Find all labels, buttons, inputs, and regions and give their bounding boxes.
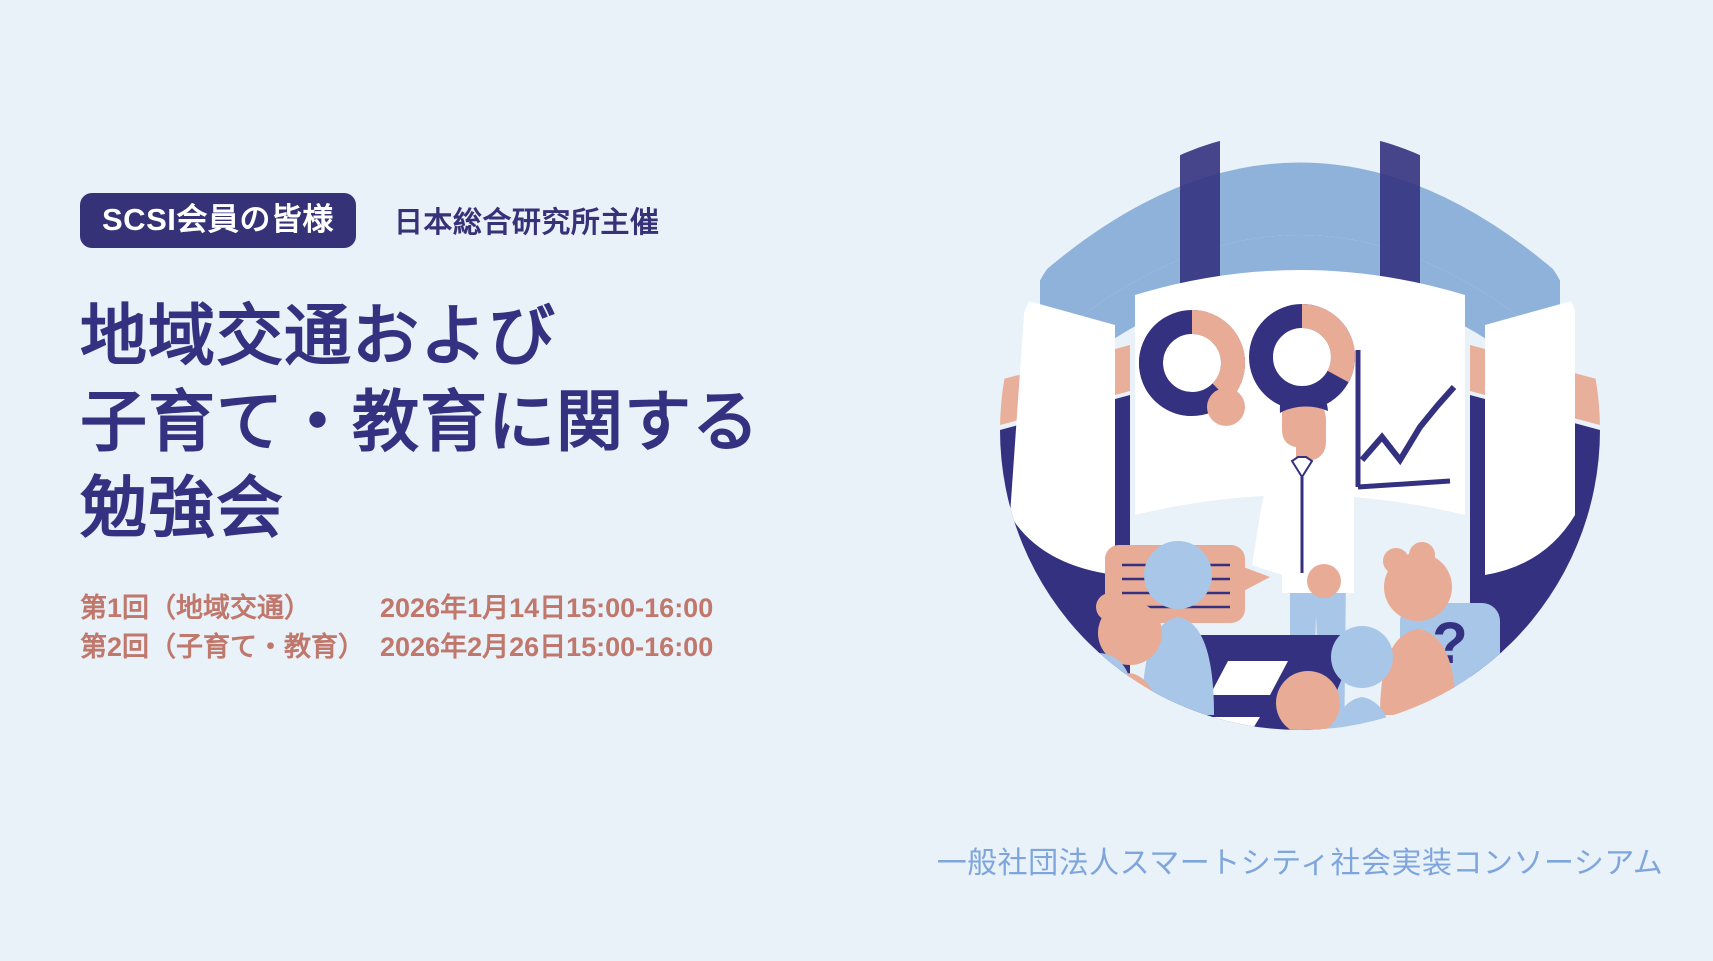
organization-name: 一般社団法人スマートシティ社会実装コンソーシアム (930, 838, 1670, 882)
title-line-1: 地域交通および (80, 294, 900, 380)
event-banner: SCSI会員の皆様 日本総合研究所主催 地域交通および 子育て・教育に関する 勉… (0, 0, 1713, 961)
host-label: 日本総合研究所主催 (394, 199, 660, 241)
title-line-3: 勉強会 (80, 466, 900, 552)
table-paper-2 (1158, 717, 1260, 763)
session-datetime: 2026年1月14日15:00-16:00 (380, 589, 713, 627)
session-label: 第2回（子育て・教育） (80, 628, 380, 666)
left-white-panel (1010, 300, 1115, 575)
schedule-row: 第2回（子育て・教育） 2026年2月26日15:00-16:00 (80, 628, 900, 666)
session-label: 第1回（地域交通） (80, 589, 380, 627)
page-title: 地域交通および 子育て・教育に関する 勉強会 (80, 294, 900, 551)
session-datetime: 2026年2月26日15:00-16:00 (380, 628, 713, 666)
presenter-other-hand (1307, 564, 1341, 598)
presenter-hand (1207, 388, 1245, 426)
title-line-2: 子育て・教育に関する (80, 380, 900, 466)
audience-person-blue-front-left (1062, 653, 1134, 775)
speech-bubble-ellipsis (994, 640, 1088, 750)
schedule-row: 第1回（地域交通） 2026年1月14日15:00-16:00 (80, 589, 900, 627)
seminar-illustration: ? (930, 95, 1670, 775)
audience-badge: SCSI会員の皆様 (80, 193, 356, 248)
schedule-list: 第1回（地域交通） 2026年1月14日15:00-16:00 第2回（子育て・… (80, 589, 900, 666)
banner-text-column: SCSI会員の皆様 日本総合研究所主催 地域交通および 子育て・教育に関する 勉… (80, 190, 900, 666)
eyebrow-row: SCSI会員の皆様 日本総合研究所主催 (80, 190, 900, 250)
